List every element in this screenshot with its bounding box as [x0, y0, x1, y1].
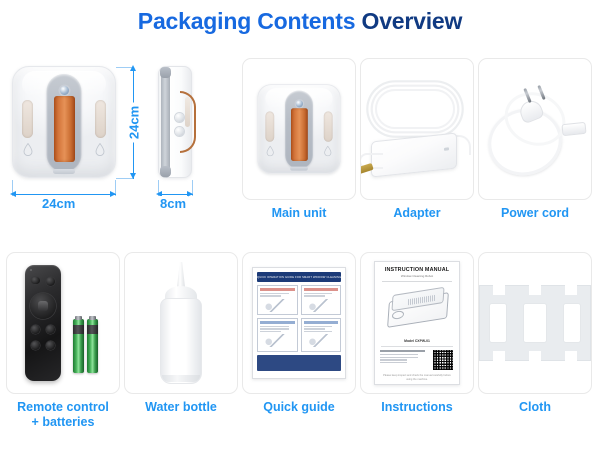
remote-mode-button-1 [31, 325, 40, 334]
cleaning-cloth-image [479, 285, 591, 361]
packaging-contents-page: Packaging Contents Overview [0, 0, 600, 450]
cloth-notch [493, 284, 505, 295]
manual-subtitle: Window Cleaning Robot [380, 274, 454, 278]
guide-panel-lines [260, 293, 295, 297]
guide-panel-title [260, 288, 295, 291]
manual-divider [381, 346, 453, 347]
cloth-slot [489, 303, 507, 343]
item-label-instructions: Instructions [360, 400, 474, 415]
item-label-line-2: + batteries [6, 415, 120, 430]
cloth-notch [565, 284, 577, 295]
quick-guide-image: QUICK OPERATION GUIDE FOR SMART WINDOW C… [252, 267, 346, 379]
manual-note: Please keep inspect and check the manual… [380, 374, 454, 382]
guide-panel [257, 285, 298, 315]
card-frame: QUICK OPERATION GUIDE FOR SMART WINDOW C… [242, 252, 356, 394]
bottom-row: Remote control + batteries Water bottle [0, 252, 600, 442]
guide-panel-illustration [304, 299, 339, 312]
guide-panel [301, 285, 342, 315]
remote-mode-button-3 [31, 341, 40, 350]
robot-rail-cap-bottom [160, 166, 171, 177]
robot-pad-left [22, 100, 33, 138]
guide-text-line [304, 328, 325, 329]
guide-text-line [260, 295, 281, 296]
card-frame [478, 252, 592, 394]
item-label-quick-guide: Quick guide [242, 400, 356, 415]
dimension-arrow-right [110, 191, 116, 197]
card-artwork [361, 59, 473, 199]
guide-text-line [260, 326, 289, 327]
robot-orange-panel [54, 96, 75, 162]
item-label-remote-control: Remote control + batteries [6, 400, 120, 429]
power-cord-image [480, 75, 590, 183]
guide-panel-illustration [260, 299, 295, 312]
guide-panel-title [260, 321, 295, 324]
robot-side-rail [161, 68, 170, 178]
robot-safety-cord [180, 91, 196, 153]
battery-1 [73, 319, 84, 373]
guide-text-line [304, 326, 333, 327]
robot-orange-panel [291, 108, 308, 161]
manual-title: INSTRUCTION MANUAL [380, 267, 454, 273]
robot-bottom-bumper [53, 169, 75, 174]
guide-panel-lines [260, 326, 295, 332]
guide-panel-illustration [304, 334, 339, 347]
cord-device-connector [561, 122, 586, 136]
page-title-part-2: Overview [362, 8, 463, 34]
guide-panel-illustration [260, 334, 295, 347]
guide-text-line [260, 331, 281, 332]
bottle-base [162, 375, 200, 382]
robot-sensor-icon [60, 86, 69, 95]
robot-pad-right [95, 100, 106, 138]
guide-text-line [260, 328, 289, 329]
remote-home-button [46, 277, 55, 286]
battery-2 [87, 319, 98, 373]
remote-power-button [31, 277, 40, 284]
qr-code-icon [432, 349, 454, 371]
page-title-part-1: Packaging Contents [138, 8, 356, 34]
cloth-notch [565, 351, 577, 362]
card-frame [360, 58, 474, 200]
robot-center-capsule [285, 91, 313, 169]
manual-text-line [380, 354, 418, 355]
remote-mode-button-2 [46, 325, 55, 334]
card-frame [124, 252, 238, 394]
manual-model-number: Model CXPW-01 [380, 339, 454, 343]
water-bottle-image [146, 262, 216, 384]
adapter-led-icon [444, 147, 449, 151]
item-label-adapter: Adapter [360, 206, 474, 221]
card-artwork [7, 253, 119, 393]
page-title: Packaging Contents Overview [0, 8, 600, 35]
adapter-image [361, 77, 473, 181]
robot-center-capsule [47, 74, 82, 172]
card-artwork [125, 253, 237, 393]
quick-guide-header-text: QUICK OPERATION GUIDE FOR SMART WINDOW C… [257, 275, 341, 278]
dimension-arrow-down [130, 173, 136, 179]
cloth-notch [529, 284, 541, 295]
main-unit-image [257, 84, 340, 174]
manual-bullet-list [380, 349, 429, 371]
card-frame [242, 58, 356, 200]
guide-panel [301, 318, 342, 352]
card-artwork: QUICK OPERATION GUIDE FOR SMART WINDOW C… [243, 253, 355, 393]
water-drop-icon [95, 143, 105, 156]
item-label-main-unit: Main unit [242, 206, 356, 221]
card-artwork [479, 59, 591, 199]
instruction-manual-image: INSTRUCTION MANUAL Window Cleaning Robot… [374, 261, 460, 385]
adapter-cable-coil [375, 89, 455, 129]
manual-text-line [380, 359, 407, 360]
remote-control-body [25, 265, 61, 381]
cloth-slot [563, 303, 581, 343]
dimension-arrow-left [10, 191, 16, 197]
item-label-cloth: Cloth [478, 400, 592, 415]
cloth-notch [493, 351, 505, 362]
dimension-height-label: 24cm [127, 103, 142, 143]
card-artwork [479, 253, 591, 393]
guide-panel [257, 318, 298, 352]
card-frame [6, 252, 120, 394]
manual-divider [382, 281, 452, 282]
dimension-depth-label: 8cm [158, 196, 188, 211]
bottle-body [160, 298, 202, 384]
robot-pad-left [265, 111, 274, 141]
robot-front-view [12, 66, 116, 178]
robot-bottom-bumper [290, 167, 308, 171]
remote-dpad [30, 293, 56, 319]
quick-guide-panels [257, 285, 341, 352]
manual-device-illustration [380, 285, 454, 337]
guide-text-line [304, 295, 325, 296]
guide-text-line [304, 293, 333, 294]
dimension-arrow-up [130, 65, 136, 71]
manual-text-line [380, 362, 407, 363]
guide-panel-title [304, 288, 339, 291]
dimension-diagram: 24cm 24cm 8cm [6, 58, 228, 223]
guide-text-line [304, 331, 333, 332]
card-artwork [243, 59, 355, 199]
quick-guide-footer-banner [257, 355, 341, 371]
remote-led-icon [30, 269, 32, 271]
remote-dpad-center [38, 301, 48, 311]
card-frame [478, 58, 592, 200]
robot-side-view [158, 66, 192, 178]
remote-mode-button-4 [46, 341, 55, 350]
guide-text-line [260, 293, 289, 294]
guide-panel-title [304, 321, 339, 324]
cloth-slot [523, 303, 547, 343]
item-label-power-cord: Power cord [478, 206, 592, 221]
guide-panel-lines [304, 326, 339, 332]
item-label-water-bottle: Water bottle [124, 400, 238, 415]
robot-sensor-icon [295, 100, 302, 107]
guide-panel-lines [304, 293, 339, 297]
remote-and-batteries-image [7, 263, 119, 383]
robot-rail-cap-top [160, 67, 171, 78]
manual-text-line [380, 357, 418, 358]
water-drop-icon [23, 143, 33, 156]
quick-guide-header-banner: QUICK OPERATION GUIDE FOR SMART WINDOW C… [257, 272, 341, 282]
water-drop-icon [324, 146, 332, 156]
manual-text-line [380, 350, 425, 352]
robot-pad-right [324, 111, 333, 141]
manual-footer-block [380, 349, 454, 371]
item-label-line-1: Remote control [6, 400, 120, 415]
cloth-notch [529, 351, 541, 362]
adapter-brick [371, 132, 457, 177]
card-artwork: INSTRUCTION MANUAL Window Cleaning Robot… [361, 253, 473, 393]
card-frame: INSTRUCTION MANUAL Window Cleaning Robot… [360, 252, 474, 394]
water-drop-icon [266, 146, 274, 156]
dimension-width-label: 24cm [40, 196, 77, 211]
top-row: 24cm 24cm 8cm [0, 58, 600, 233]
